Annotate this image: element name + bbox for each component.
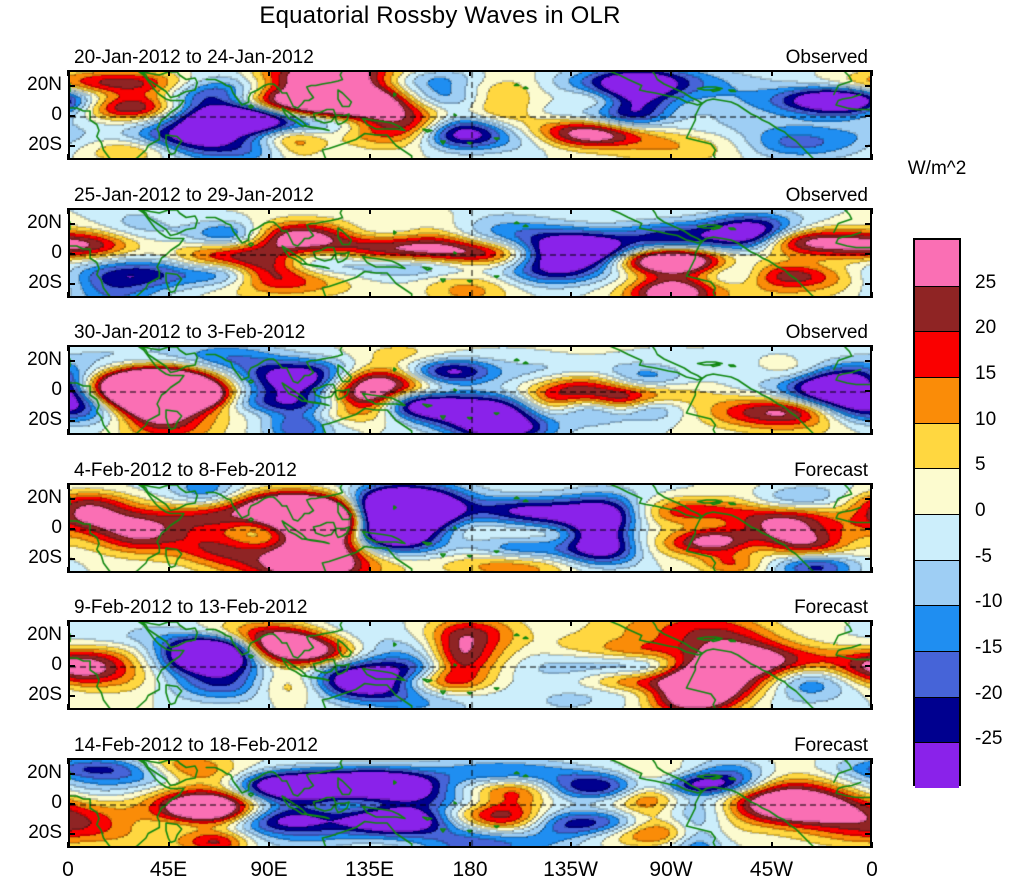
colorbar[interactable] [913, 238, 961, 786]
x-axis-tick-mark [268, 567, 270, 573]
y-axis-tick-mark [865, 665, 872, 667]
x-axis-tick-mark [268, 704, 270, 710]
y-axis-tick-mark [865, 695, 872, 697]
x-axis-tick-mark [670, 208, 672, 214]
y-axis-tick-mark [68, 635, 75, 637]
x-axis-tick-mark [168, 154, 170, 160]
x-axis-tick-mark [871, 154, 873, 160]
x-axis-tick-mark [570, 208, 572, 214]
x-axis-tick-label-4: 180 [425, 858, 515, 882]
x-axis-tick-mark [469, 70, 471, 76]
colorbar-tick-label-7: -10 [975, 591, 1002, 613]
panel-kind-label-5: Forecast [672, 597, 868, 619]
x-axis-tick-label-5: 135W [526, 858, 616, 882]
x-axis-tick-mark [771, 704, 773, 710]
x-axis-tick-mark [67, 292, 69, 298]
colorbar-segment-0 [915, 240, 959, 286]
x-axis-tick-mark [369, 429, 371, 435]
x-axis-tick-mark [67, 154, 69, 160]
panel-date-label-4: 4-Feb-2012 to 8-Feb-2012 [74, 460, 297, 482]
x-axis-tick-mark [670, 567, 672, 573]
panel-kind-label-1: Observed [672, 47, 868, 69]
y-axis-tick-mark [865, 223, 872, 225]
x-axis-tick-mark [469, 620, 471, 626]
panel-date-label-3: 30-Jan-2012 to 3-Feb-2012 [74, 322, 305, 344]
x-axis-tick-mark [771, 154, 773, 160]
x-axis-tick-mark [168, 208, 170, 214]
colorbar-segment-8 [915, 605, 959, 651]
panel-kind-label-3: Observed [672, 322, 868, 344]
y-axis-tick-6-0: 20N [2, 762, 62, 784]
colorbar-units-label: W/m^2 [867, 158, 1007, 180]
colorbar-divider [915, 514, 959, 515]
x-axis-tick-mark [268, 292, 270, 298]
y-axis-tick-mark [865, 360, 872, 362]
colorbar-segment-3 [915, 377, 959, 423]
y-axis-tick-mark [865, 85, 872, 87]
x-axis-tick-mark [670, 620, 672, 626]
y-axis-tick-mark [68, 558, 75, 560]
x-axis-tick-mark [670, 292, 672, 298]
x-axis-tick-mark [268, 429, 270, 435]
panel-date-label-2: 25-Jan-2012 to 29-Jan-2012 [74, 185, 314, 207]
colorbar-divider [915, 423, 959, 424]
y-axis-tick-mark [865, 420, 872, 422]
x-axis-tick-mark [771, 483, 773, 489]
colorbar-tick-label-9: -20 [975, 683, 1002, 705]
colorbar-divider [915, 605, 959, 606]
x-axis-tick-mark [570, 758, 572, 764]
y-axis-tick-mark [865, 498, 872, 500]
colorbar-tick-label-0: 25 [975, 272, 996, 294]
y-axis-tick-mark [68, 803, 75, 805]
x-axis-tick-mark [268, 483, 270, 489]
x-axis-tick-mark [771, 292, 773, 298]
x-axis-tick-mark [570, 842, 572, 848]
x-axis-tick-mark [67, 620, 69, 626]
x-axis-tick-mark [67, 429, 69, 435]
x-axis-tick-mark [469, 154, 471, 160]
x-axis-tick-mark [771, 345, 773, 351]
x-axis-tick-mark [469, 208, 471, 214]
x-axis-tick-mark [771, 208, 773, 214]
y-axis-tick-mark [68, 833, 75, 835]
x-axis-tick-mark [168, 345, 170, 351]
olr-anomaly-field-3 [70, 347, 872, 435]
y-axis-tick-3-2: 20S [2, 409, 62, 431]
colorbar-divider [915, 560, 959, 561]
x-axis-tick-mark [168, 842, 170, 848]
x-axis-tick-mark [670, 758, 672, 764]
y-axis-tick-2-0: 20N [2, 212, 62, 234]
x-axis-tick-mark [670, 70, 672, 76]
x-axis-tick-mark [369, 208, 371, 214]
x-axis-tick-mark [268, 620, 270, 626]
x-axis-tick-label-8: 0 [827, 858, 917, 882]
x-axis-tick-label-6: 90W [626, 858, 716, 882]
x-axis-tick-mark [570, 70, 572, 76]
x-axis-tick-mark [369, 292, 371, 298]
x-axis-tick-mark [570, 345, 572, 351]
colorbar-segment-4 [915, 423, 959, 469]
y-axis-tick-3-0: 20N [2, 349, 62, 371]
y-axis-tick-2-2: 20S [2, 272, 62, 294]
y-axis-tick-mark [865, 803, 872, 805]
colorbar-segment-5 [915, 468, 959, 514]
olr-anomaly-field-1 [70, 72, 872, 160]
y-axis-tick-mark [68, 253, 75, 255]
x-axis-tick-mark [871, 70, 873, 76]
olr-anomaly-field-5 [70, 622, 872, 710]
colorbar-tick-label-8: -15 [975, 637, 1002, 659]
x-axis-tick-mark [670, 154, 672, 160]
colorbar-segment-11 [915, 742, 959, 788]
colorbar-tick-label-3: 10 [975, 409, 996, 431]
x-axis-tick-label-2: 90E [224, 858, 314, 882]
y-axis-tick-mark [865, 635, 872, 637]
x-axis-tick-mark [871, 758, 873, 764]
x-axis-tick-mark [469, 483, 471, 489]
x-axis-tick-mark [771, 758, 773, 764]
colorbar-segment-9 [915, 651, 959, 697]
olr-anomaly-field-6 [70, 760, 872, 848]
x-axis-tick-mark [369, 704, 371, 710]
colorbar-segment-7 [915, 560, 959, 606]
x-axis-tick-mark [771, 567, 773, 573]
x-axis-tick-mark [771, 70, 773, 76]
y-axis-tick-mark [865, 833, 872, 835]
x-axis-tick-mark [369, 345, 371, 351]
x-axis-tick-mark [369, 154, 371, 160]
x-axis-tick-mark [67, 842, 69, 848]
y-axis-tick-mark [68, 145, 75, 147]
y-axis-tick-1-0: 20N [2, 74, 62, 96]
y-axis-tick-mark [68, 498, 75, 500]
colorbar-tick-label-5: 0 [975, 500, 986, 522]
y-axis-tick-mark [68, 420, 75, 422]
y-axis-tick-mark [68, 360, 75, 362]
x-axis-tick-mark [268, 758, 270, 764]
panel-date-label-5: 9-Feb-2012 to 13-Feb-2012 [74, 597, 307, 619]
x-axis-tick-mark [670, 483, 672, 489]
colorbar-tick-label-6: -5 [975, 546, 992, 568]
colorbar-tick-label-1: 20 [975, 317, 996, 339]
page-title: Equatorial Rossby Waves in OLR [0, 2, 880, 30]
x-axis-tick-mark [369, 567, 371, 573]
x-axis-tick-mark [67, 208, 69, 214]
y-axis-tick-1-1: 0 [2, 104, 62, 126]
y-axis-tick-mark [68, 528, 75, 530]
x-axis-tick-mark [469, 345, 471, 351]
map-panel-5 [68, 620, 872, 710]
x-axis-tick-mark [871, 483, 873, 489]
y-axis-tick-1-2: 20S [2, 134, 62, 156]
y-axis-tick-mark [68, 665, 75, 667]
map-panel-4 [68, 483, 872, 573]
x-axis-tick-mark [469, 429, 471, 435]
colorbar-segment-2 [915, 331, 959, 377]
colorbar-divider [915, 697, 959, 698]
y-axis-tick-6-2: 20S [2, 822, 62, 844]
x-axis-tick-label-3: 135E [325, 858, 415, 882]
x-axis-tick-mark [369, 483, 371, 489]
x-axis-tick-mark [871, 345, 873, 351]
x-axis-tick-mark [670, 345, 672, 351]
x-axis-tick-mark [469, 292, 471, 298]
x-axis-tick-mark [771, 429, 773, 435]
colorbar-tick-label-4: 5 [975, 454, 986, 476]
colorbar-divider [915, 377, 959, 378]
panel-date-label-6: 14-Feb-2012 to 18-Feb-2012 [74, 735, 318, 757]
x-axis-tick-mark [369, 758, 371, 764]
x-axis-tick-mark [570, 567, 572, 573]
x-axis-tick-mark [268, 208, 270, 214]
x-axis-tick-mark [469, 567, 471, 573]
x-axis-tick-mark [268, 154, 270, 160]
colorbar-divider [915, 651, 959, 652]
y-axis-tick-4-1: 0 [2, 517, 62, 539]
colorbar-divider [915, 286, 959, 287]
y-axis-tick-mark [865, 528, 872, 530]
x-axis-tick-mark [871, 292, 873, 298]
colorbar-segment-10 [915, 697, 959, 743]
x-axis-tick-mark [168, 429, 170, 435]
x-axis-tick-mark [268, 70, 270, 76]
x-axis-tick-mark [871, 429, 873, 435]
colorbar-divider [915, 742, 959, 743]
x-axis-tick-mark [670, 429, 672, 435]
x-axis-tick-mark [168, 70, 170, 76]
x-axis-tick-mark [67, 483, 69, 489]
x-axis-tick-mark [570, 620, 572, 626]
x-axis-tick-mark [168, 704, 170, 710]
x-axis-tick-mark [67, 758, 69, 764]
y-axis-tick-mark [865, 558, 872, 560]
x-axis-tick-mark [469, 704, 471, 710]
x-axis-tick-mark [771, 620, 773, 626]
x-axis-tick-mark [570, 154, 572, 160]
x-axis-tick-mark [469, 842, 471, 848]
x-axis-tick-mark [670, 842, 672, 848]
x-axis-tick-mark [67, 70, 69, 76]
x-axis-tick-mark [168, 483, 170, 489]
y-axis-tick-5-1: 0 [2, 654, 62, 676]
y-axis-tick-mark [68, 115, 75, 117]
colorbar-divider [915, 468, 959, 469]
colorbar-tick-label-2: 15 [975, 363, 996, 385]
y-axis-tick-4-0: 20N [2, 487, 62, 509]
y-axis-tick-5-0: 20N [2, 624, 62, 646]
y-axis-tick-mark [68, 390, 75, 392]
x-axis-tick-label-1: 45E [124, 858, 214, 882]
x-axis-tick-mark [369, 842, 371, 848]
x-axis-tick-mark [268, 345, 270, 351]
y-axis-tick-mark [68, 773, 75, 775]
x-axis-tick-mark [871, 704, 873, 710]
olr-anomaly-field-4 [70, 485, 872, 573]
y-axis-tick-6-1: 0 [2, 792, 62, 814]
colorbar-tick-label-10: -25 [975, 728, 1002, 750]
y-axis-tick-mark [865, 773, 872, 775]
x-axis-tick-mark [168, 567, 170, 573]
y-axis-tick-mark [68, 85, 75, 87]
x-axis-tick-mark [67, 345, 69, 351]
map-panel-3 [68, 345, 872, 435]
x-axis-tick-mark [369, 620, 371, 626]
x-axis-tick-mark [570, 292, 572, 298]
x-axis-tick-mark [871, 620, 873, 626]
x-axis-tick-mark [168, 620, 170, 626]
map-panel-6 [68, 758, 872, 848]
y-axis-tick-mark [865, 253, 872, 255]
x-axis-tick-mark [168, 292, 170, 298]
map-panel-2 [68, 208, 872, 298]
y-axis-tick-mark [865, 145, 872, 147]
x-axis-tick-mark [871, 208, 873, 214]
x-axis-tick-mark [369, 70, 371, 76]
x-axis-tick-mark [871, 842, 873, 848]
y-axis-tick-mark [865, 115, 872, 117]
colorbar-segment-6 [915, 514, 959, 560]
olr-anomaly-field-2 [70, 210, 872, 298]
y-axis-tick-4-2: 20S [2, 547, 62, 569]
y-axis-tick-5-2: 20S [2, 684, 62, 706]
x-axis-tick-mark [268, 842, 270, 848]
x-axis-tick-mark [67, 704, 69, 710]
x-axis-tick-mark [570, 704, 572, 710]
y-axis-tick-mark [865, 283, 872, 285]
x-axis-tick-label-0: 0 [23, 858, 113, 882]
colorbar-divider [915, 331, 959, 332]
panel-kind-label-4: Forecast [672, 460, 868, 482]
panel-date-label-1: 20-Jan-2012 to 24-Jan-2012 [74, 47, 314, 69]
y-axis-tick-2-1: 0 [2, 242, 62, 264]
x-axis-tick-mark [67, 567, 69, 573]
y-axis-tick-mark [68, 283, 75, 285]
y-axis-tick-mark [68, 695, 75, 697]
x-axis-tick-mark [570, 429, 572, 435]
y-axis-tick-3-1: 0 [2, 379, 62, 401]
map-panel-1 [68, 70, 872, 160]
y-axis-tick-mark [865, 390, 872, 392]
x-axis-tick-mark [469, 758, 471, 764]
x-axis-tick-label-7: 45W [727, 858, 817, 882]
panel-kind-label-6: Forecast [672, 735, 868, 757]
colorbar-segment-1 [915, 286, 959, 332]
y-axis-tick-mark [68, 223, 75, 225]
x-axis-tick-mark [570, 483, 572, 489]
x-axis-tick-mark [771, 842, 773, 848]
x-axis-tick-mark [168, 758, 170, 764]
panel-kind-label-2: Observed [672, 185, 868, 207]
x-axis-tick-mark [670, 704, 672, 710]
x-axis-tick-mark [871, 567, 873, 573]
